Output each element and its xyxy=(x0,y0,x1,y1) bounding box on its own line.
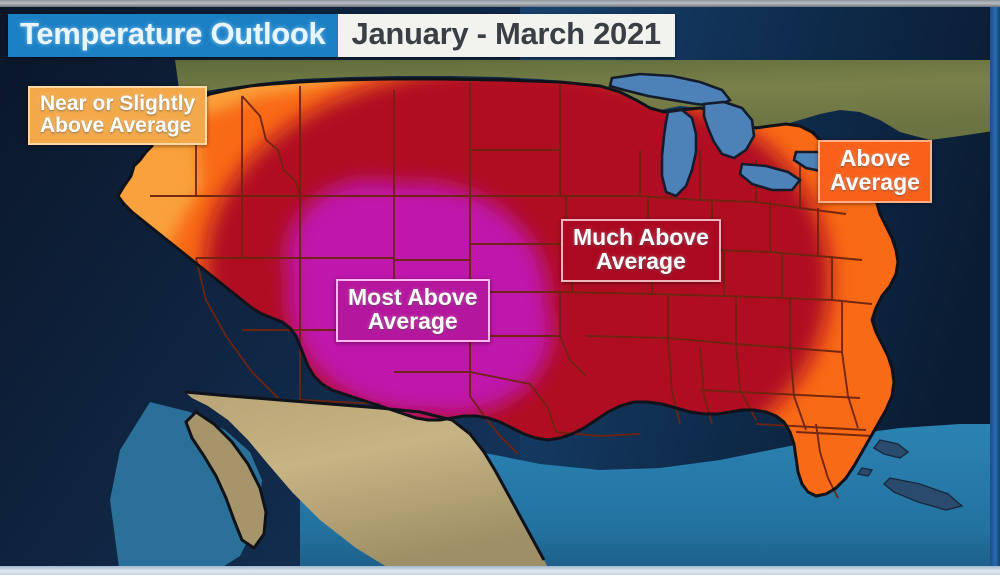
bottom-chrome-strip xyxy=(0,566,1000,575)
right-chrome-strip xyxy=(990,7,1000,566)
callout-line2: Average xyxy=(830,171,920,195)
callout-line1: Most Above xyxy=(348,284,478,310)
product-title: Temperature Outlook xyxy=(8,14,338,57)
callout-near-or-slightly-above-average: Near or Slightly Above Average xyxy=(28,86,207,145)
top-chrome-strip xyxy=(0,0,1000,7)
callout-line1: Above xyxy=(840,145,910,171)
weather-map-screenshot: Temperature Outlook January - March 2021… xyxy=(0,0,1000,575)
callout-much-above-average: Much Above Average xyxy=(561,219,721,282)
forecast-period: January - March 2021 xyxy=(338,14,675,57)
callout-line1: Near or Slightly xyxy=(40,92,195,115)
callout-above-average: Above Average xyxy=(818,140,932,203)
title-bar: Temperature Outlook January - March 2021 xyxy=(8,14,675,57)
callout-line2: Average xyxy=(573,250,709,274)
callout-line1: Much Above xyxy=(573,224,709,250)
callout-line2: Above Average xyxy=(40,115,195,137)
callout-most-above-average: Most Above Average xyxy=(336,279,490,342)
callout-line2: Average xyxy=(348,310,478,334)
